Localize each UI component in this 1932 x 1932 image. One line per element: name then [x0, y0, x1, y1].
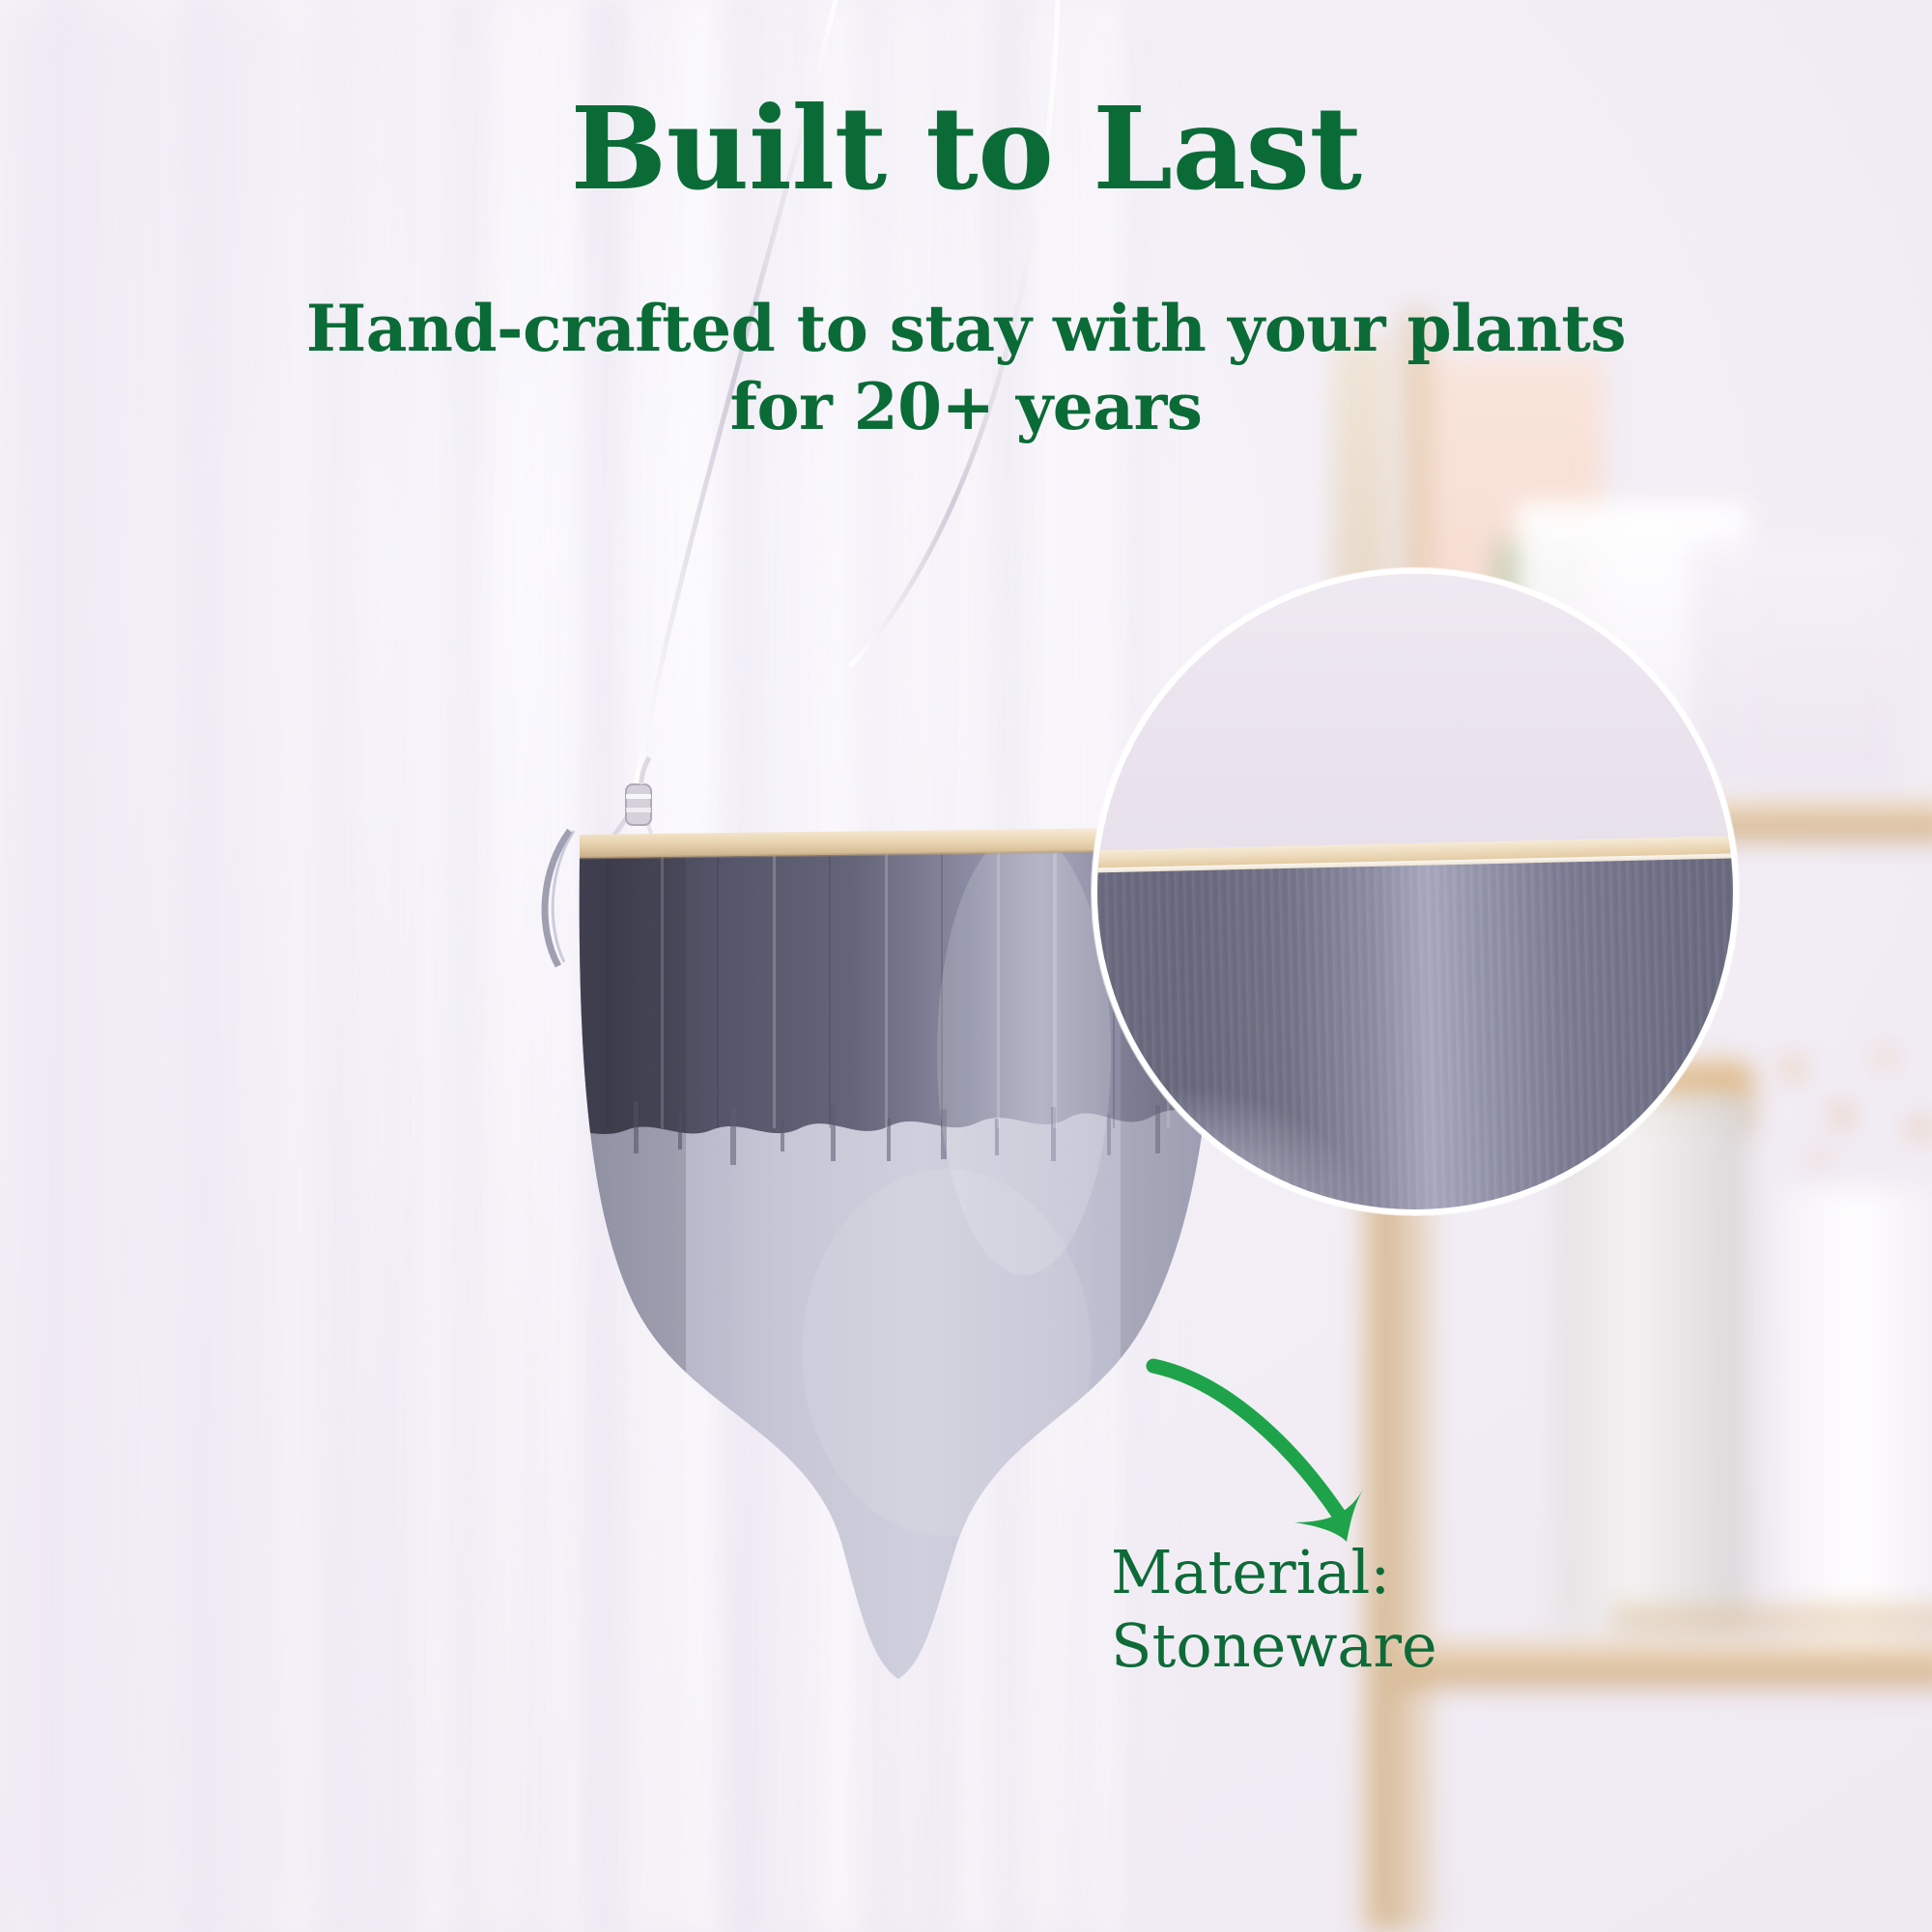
cord-crimp-ferrule — [599, 763, 686, 860]
page-subtitle: Hand-crafted to stay with your plants fo… — [0, 290, 1932, 445]
curved-arrow-icon — [1140, 1343, 1468, 1565]
subtitle-line-1: Hand-crafted to stay with your plants — [0, 290, 1932, 368]
subtitle-line-2: for 20+ years — [0, 368, 1932, 446]
material-callout-line-1: Material: — [1111, 1536, 1613, 1609]
magnifier-lower-wash — [1092, 1086, 1377, 1215]
magnifier-background — [1092, 568, 1739, 853]
detail-magnifier-circle — [1092, 568, 1739, 1215]
material-callout-line-2: Stoneware — [1111, 1609, 1613, 1683]
material-callout: Material: Stoneware — [1111, 1536, 1613, 1682]
headline-text: Built to Last — [571, 81, 1362, 215]
marketing-image-canvas: Built to Last Hand-crafted to stay with … — [0, 0, 1932, 1932]
magnifier-content — [1092, 568, 1739, 1215]
page-title: Built to Last — [0, 91, 1932, 207]
